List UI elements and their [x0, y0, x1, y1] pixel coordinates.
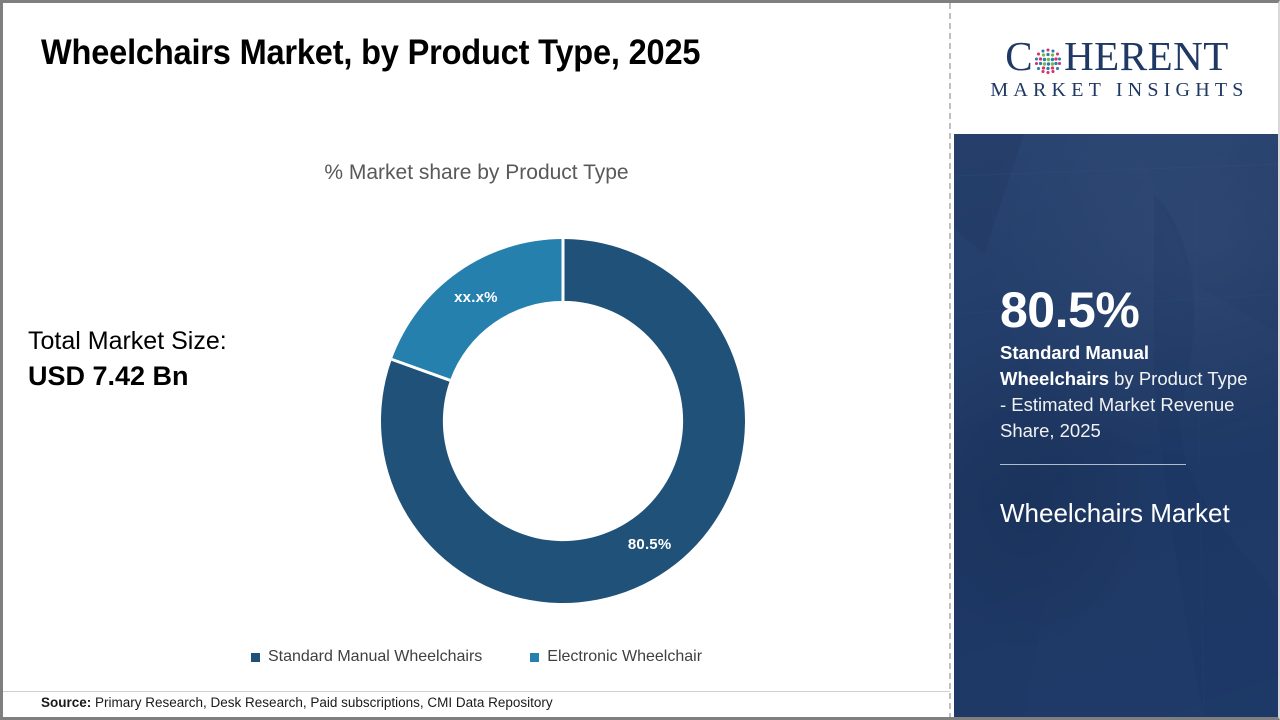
donut-label-electronic-wheelchair: xx.x%: [454, 289, 498, 306]
brand-logo-wordmark: C: [1005, 36, 1229, 77]
brand-logo-tagline: MARKET INSIGHTS: [985, 79, 1248, 102]
highlight-divider: [1000, 464, 1186, 465]
legend-item-standard-manual-wheelchairs[interactable]: Standard Manual Wheelchairs: [251, 648, 482, 666]
highlight-description: Standard Manual Wheelchairs by Product T…: [1000, 340, 1250, 445]
source-body: Primary Research, Desk Research, Paid su…: [91, 695, 552, 710]
brand-logo-letter-c: C: [1005, 36, 1033, 77]
legend-swatch-icon: [530, 653, 539, 662]
source-prefix: Source:: [41, 695, 91, 710]
legend-item-electronic-wheelchair[interactable]: Electronic Wheelchair: [530, 648, 702, 666]
highlight-panel: 80.5% Standard Manual Wheelchairs by Pro…: [954, 134, 1280, 719]
brand-logo[interactable]: C: [954, 3, 1280, 134]
chart-area: Wheelchairs Market, by Product Type, 202…: [3, 3, 950, 719]
donut-chart-svg: [381, 239, 745, 603]
page-title: Wheelchairs Market, by Product Type, 202…: [41, 33, 700, 73]
right-column: C: [954, 3, 1280, 719]
infographic-root: Wheelchairs Market, by Product Type, 202…: [0, 0, 1280, 720]
footer-divider: [3, 691, 950, 692]
total-market-size-label: Total Market Size:: [28, 325, 318, 358]
total-market-size-block: Total Market Size: USD 7.42 Bn: [28, 325, 318, 394]
source-note: Source: Primary Research, Desk Research,…: [41, 695, 553, 710]
legend-label: Electronic Wheelchair: [547, 648, 702, 666]
chart-subtitle: % Market share by Product Type: [3, 161, 950, 185]
highlight-desc-bold-b: Wheelchairs: [1000, 368, 1109, 389]
report-name: Wheelchairs Market: [1000, 495, 1250, 532]
highlight-percent: 80.5%: [1000, 284, 1250, 337]
total-market-size-value: USD 7.42 Bn: [28, 358, 318, 394]
donut-slice-electronic-wheelchair[interactable]: [392, 239, 563, 380]
chart-legend: Standard Manual Wheelchairs Electronic W…: [3, 648, 950, 666]
highlight-desc-bold-a: Standard Manual: [1000, 342, 1149, 363]
donut-chart: xx.x% 80.5%: [381, 239, 745, 603]
globe-icon: [1033, 42, 1063, 72]
vertical-dashed-divider: [949, 3, 951, 719]
highlight-content: 80.5% Standard Manual Wheelchairs by Pro…: [1000, 284, 1250, 532]
donut-label-standard-manual-wheelchairs: 80.5%: [628, 536, 672, 553]
legend-label: Standard Manual Wheelchairs: [268, 648, 482, 666]
brand-logo-letters-herent: HERENT: [1064, 36, 1229, 77]
legend-swatch-icon: [251, 653, 260, 662]
